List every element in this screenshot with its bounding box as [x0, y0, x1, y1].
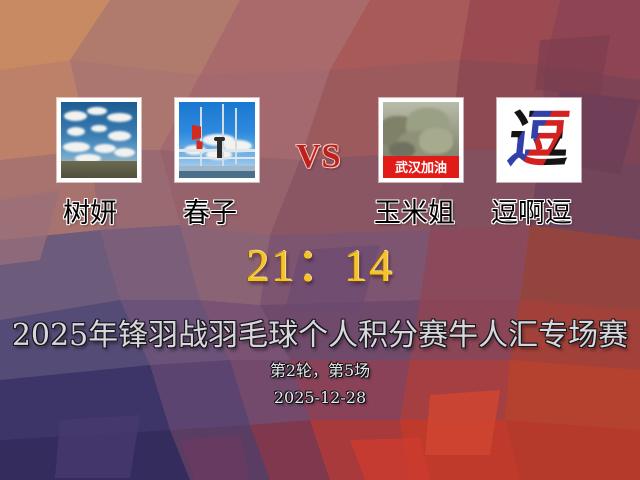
- avatar-sky-mountains[interactable]: [57, 98, 141, 182]
- avatar-glyph: 逗: [505, 109, 574, 171]
- avatar-image: 武汉加油: [383, 102, 459, 178]
- avatar-cat-banner[interactable]: 武汉加油: [379, 98, 463, 182]
- avatar-flags-railing[interactable]: [175, 98, 259, 182]
- player-name-left-2: 春子: [183, 200, 237, 227]
- player-name-right-1: 玉米姐: [374, 200, 455, 227]
- event-title: 2025年锋羽战羽毛球个人积分赛牛人汇专场赛: [0, 320, 640, 352]
- avatar-image: [61, 102, 137, 178]
- avatar-glyph-dou[interactable]: 逗: [497, 98, 581, 182]
- scoreboard-slide: VS 武汉加油 逗 树妍 春子 玉米姐 逗啊逗 21：14 2025年锋羽战羽毛…: [0, 0, 640, 480]
- match-date: 2025-12-28: [0, 390, 640, 406]
- match-score: 21：14: [0, 243, 640, 289]
- round-label: 第2轮，第5场: [0, 363, 640, 379]
- avatar-image: 逗: [501, 102, 577, 178]
- avatar-image: [179, 102, 255, 178]
- player-name-right-2: 逗啊逗: [491, 200, 572, 227]
- player-name-left-1: 树妍: [63, 200, 117, 227]
- vs-label: VS: [296, 140, 341, 174]
- avatar-banner-text: 武汉加油: [383, 156, 459, 178]
